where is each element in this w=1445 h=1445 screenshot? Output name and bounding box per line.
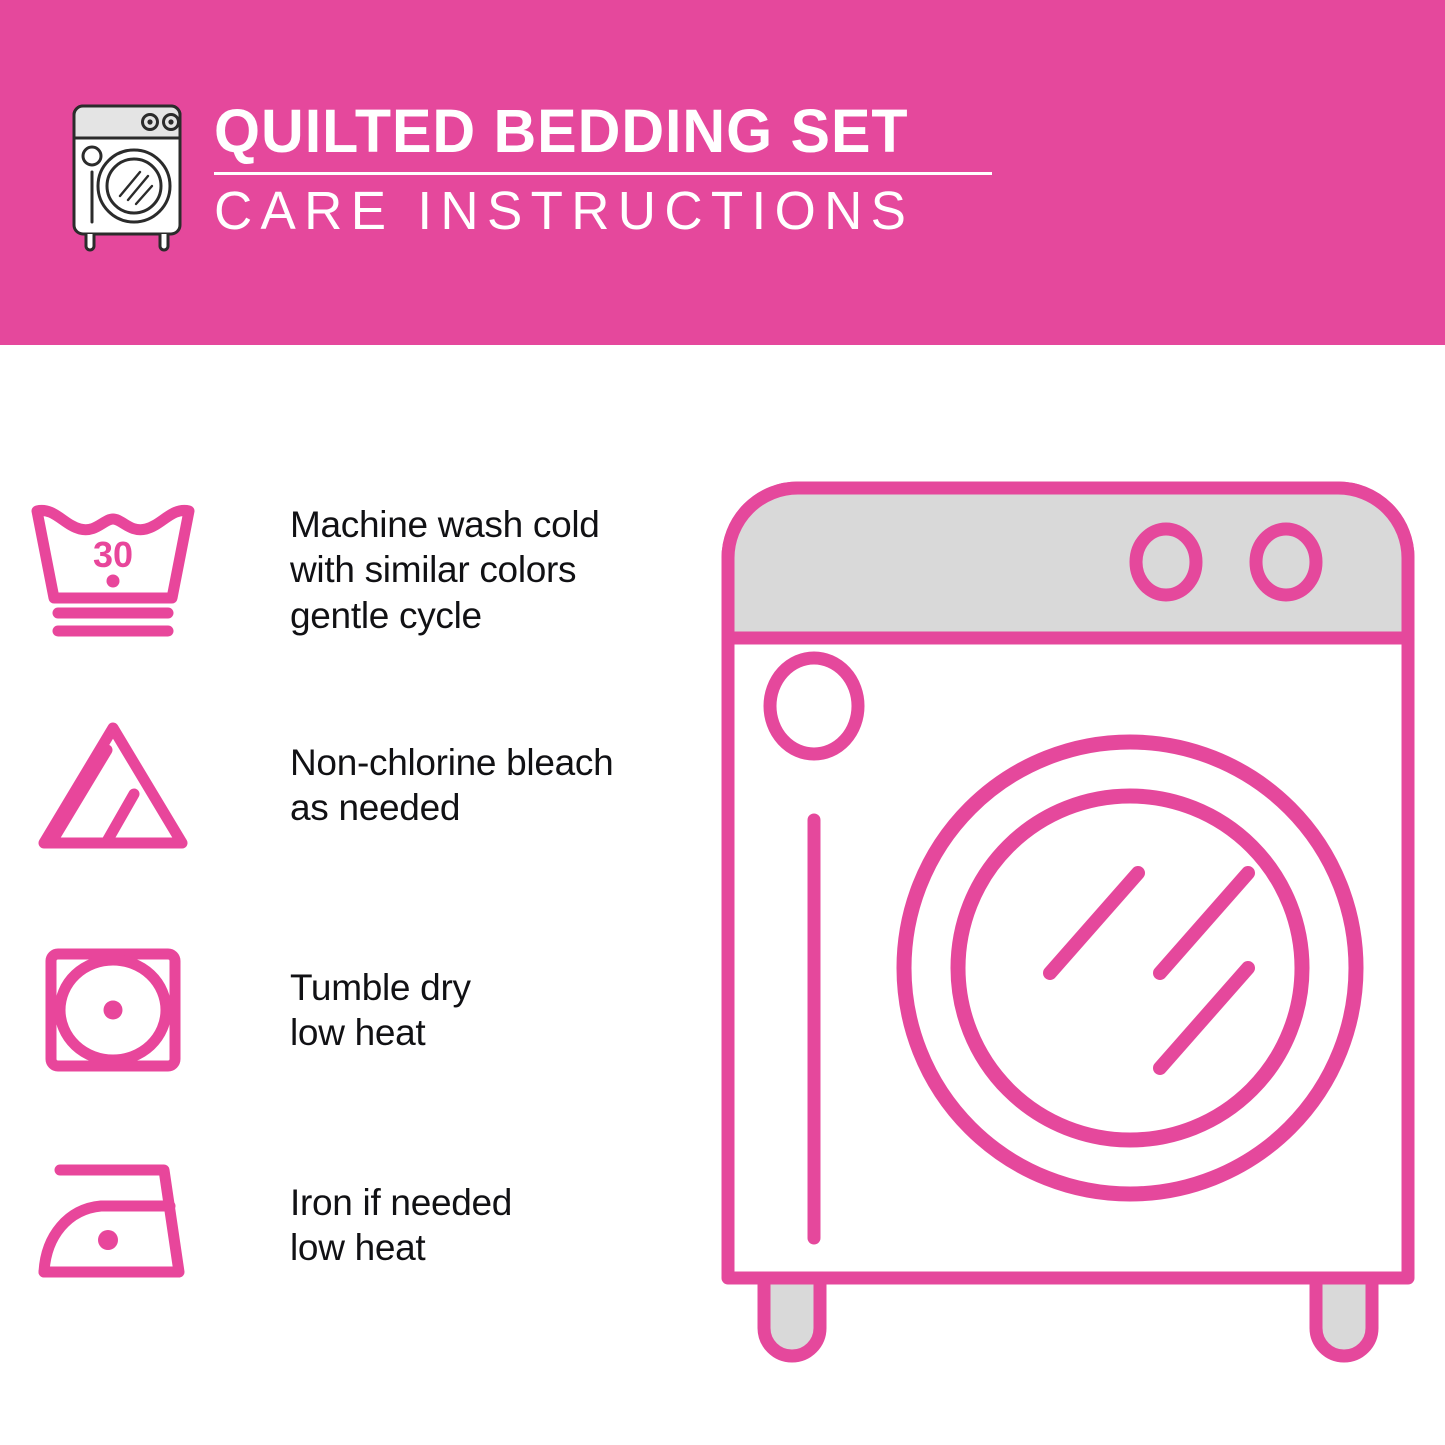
page-title: QUILTED BEDDING SET xyxy=(214,102,969,162)
tumble-dry-icon xyxy=(24,935,202,1085)
care-icon-slot: 30 xyxy=(0,495,225,645)
wash-temperature-label: 30 xyxy=(92,534,132,575)
care-row-machine-wash: 30 Machine wash cold with similar colors… xyxy=(0,480,700,660)
iron-icon xyxy=(24,1150,202,1300)
header-content: QUILTED BEDDING SET CARE INSTRUCTIONS xyxy=(62,98,992,258)
header-divider xyxy=(214,172,992,175)
machine-leg-right xyxy=(1316,1278,1372,1356)
large-washing-machine-illustration xyxy=(718,478,1418,1368)
control-knob-left[interactable] xyxy=(1136,529,1196,595)
bleach-triangle-icon xyxy=(24,710,202,860)
indicator-light-icon xyxy=(770,658,858,754)
care-icon-slot xyxy=(0,710,225,860)
care-icon-slot xyxy=(0,1150,225,1300)
care-label-iron: Iron if needed low heat xyxy=(225,1180,700,1270)
wash-basin-icon: 30 xyxy=(24,495,202,645)
control-knob-right[interactable] xyxy=(1256,529,1316,595)
machine-leg-left xyxy=(764,1278,820,1356)
washing-machine-icon xyxy=(62,98,192,253)
care-label-machine-wash: Machine wash cold with similar colors ge… xyxy=(225,502,700,637)
header-text-column: QUILTED BEDDING SET CARE INSTRUCTIONS xyxy=(214,98,992,238)
care-row-iron: Iron if needed low heat xyxy=(0,1135,700,1315)
header-band: QUILTED BEDDING SET CARE INSTRUCTIONS xyxy=(0,0,1445,345)
care-row-bleach: Non-chlorine bleach as needed xyxy=(0,695,700,875)
care-instructions-list: 30 Machine wash cold with similar colors… xyxy=(0,470,700,1330)
care-instructions-infographic: QUILTED BEDDING SET CARE INSTRUCTIONS 30 xyxy=(0,0,1445,1445)
care-label-tumble-dry: Tumble dry low heat xyxy=(225,965,700,1055)
care-icon-slot xyxy=(0,935,225,1085)
care-row-tumble-dry: Tumble dry low heat xyxy=(0,920,700,1100)
care-label-bleach: Non-chlorine bleach as needed xyxy=(225,740,700,830)
page-subtitle: CARE INSTRUCTIONS xyxy=(214,184,976,238)
